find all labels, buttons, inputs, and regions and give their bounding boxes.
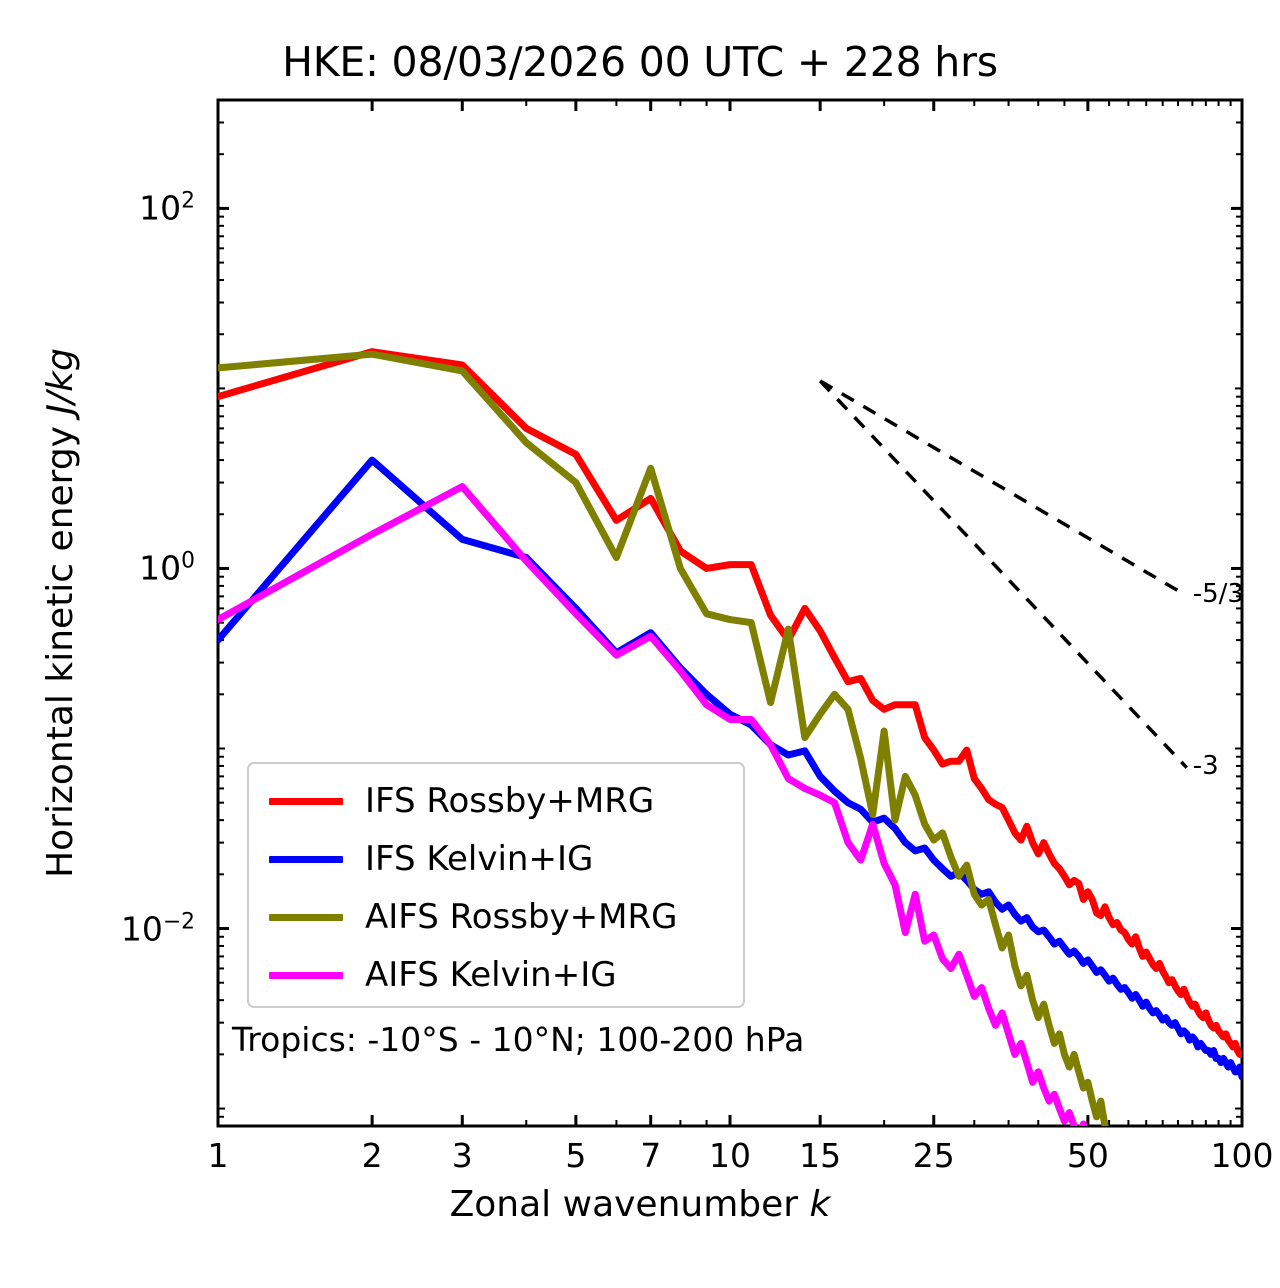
figure-canvas: HKE: 08/03/2026 00 UTC + 228 hrs Horizon… xyxy=(0,0,1280,1288)
x-tick-label-10: 10 xyxy=(709,1136,751,1175)
x-tick-label-5: 5 xyxy=(565,1136,586,1175)
legend[interactable]: IFS Rossby+MRGIFS Kelvin+IGAIFS Rossby+M… xyxy=(247,762,745,1008)
slope-label-0: -5/3 xyxy=(1193,579,1244,609)
slope-line-1 xyxy=(820,381,1187,768)
legend-label-ifs_kelvin_ig: IFS Kelvin+IG xyxy=(365,839,593,879)
y-tick-exponent: −2 xyxy=(163,909,195,934)
x-tick-label-25: 25 xyxy=(913,1136,955,1175)
legend-item-aifs_rossby_mrg[interactable]: AIFS Rossby+MRG xyxy=(249,888,743,946)
legend-item-aifs_kelvin_ig[interactable]: AIFS Kelvin+IG xyxy=(249,946,743,1004)
y-tick-label-0: 102 xyxy=(139,189,195,228)
legend-label-aifs_rossby_mrg: AIFS Rossby+MRG xyxy=(365,897,677,937)
legend-item-ifs_rossby_mrg[interactable]: IFS Rossby+MRG xyxy=(249,772,743,830)
x-tick-label-15: 15 xyxy=(799,1136,841,1175)
y-tick-label-1: 100 xyxy=(139,549,195,588)
y-tick-exponent: 2 xyxy=(181,189,195,214)
x-tick-label-50: 50 xyxy=(1067,1136,1109,1175)
x-tick-label-1: 1 xyxy=(208,1136,229,1175)
slope-line-0 xyxy=(820,381,1187,596)
region-note: Tropics: -10°S - 10°N; 100-200 hPa xyxy=(232,1020,804,1059)
legend-label-aifs_kelvin_ig: AIFS Kelvin+IG xyxy=(365,955,617,995)
legend-swatch-ifs_rossby_mrg xyxy=(269,798,343,805)
y-tick-label-2: 10−2 xyxy=(121,909,195,948)
x-tick-label-100: 100 xyxy=(1211,1136,1274,1175)
legend-swatch-aifs_kelvin_ig xyxy=(269,972,343,979)
slope-lines xyxy=(820,381,1187,768)
y-tick-mantissa: 10 xyxy=(121,909,163,948)
x-tick-label-2: 2 xyxy=(362,1136,383,1175)
y-tick-exponent: 0 xyxy=(181,549,195,574)
y-tick-mantissa: 10 xyxy=(139,549,181,588)
x-tick-label-3: 3 xyxy=(452,1136,473,1175)
y-tick-mantissa: 10 xyxy=(139,189,181,228)
slope-label-1: -3 xyxy=(1193,751,1219,781)
legend-label-ifs_rossby_mrg: IFS Rossby+MRG xyxy=(365,781,654,821)
legend-swatch-aifs_rossby_mrg xyxy=(269,914,343,921)
legend-swatch-ifs_kelvin_ig xyxy=(269,856,343,863)
x-tick-label-7: 7 xyxy=(640,1136,661,1175)
legend-item-ifs_kelvin_ig[interactable]: IFS Kelvin+IG xyxy=(249,830,743,888)
